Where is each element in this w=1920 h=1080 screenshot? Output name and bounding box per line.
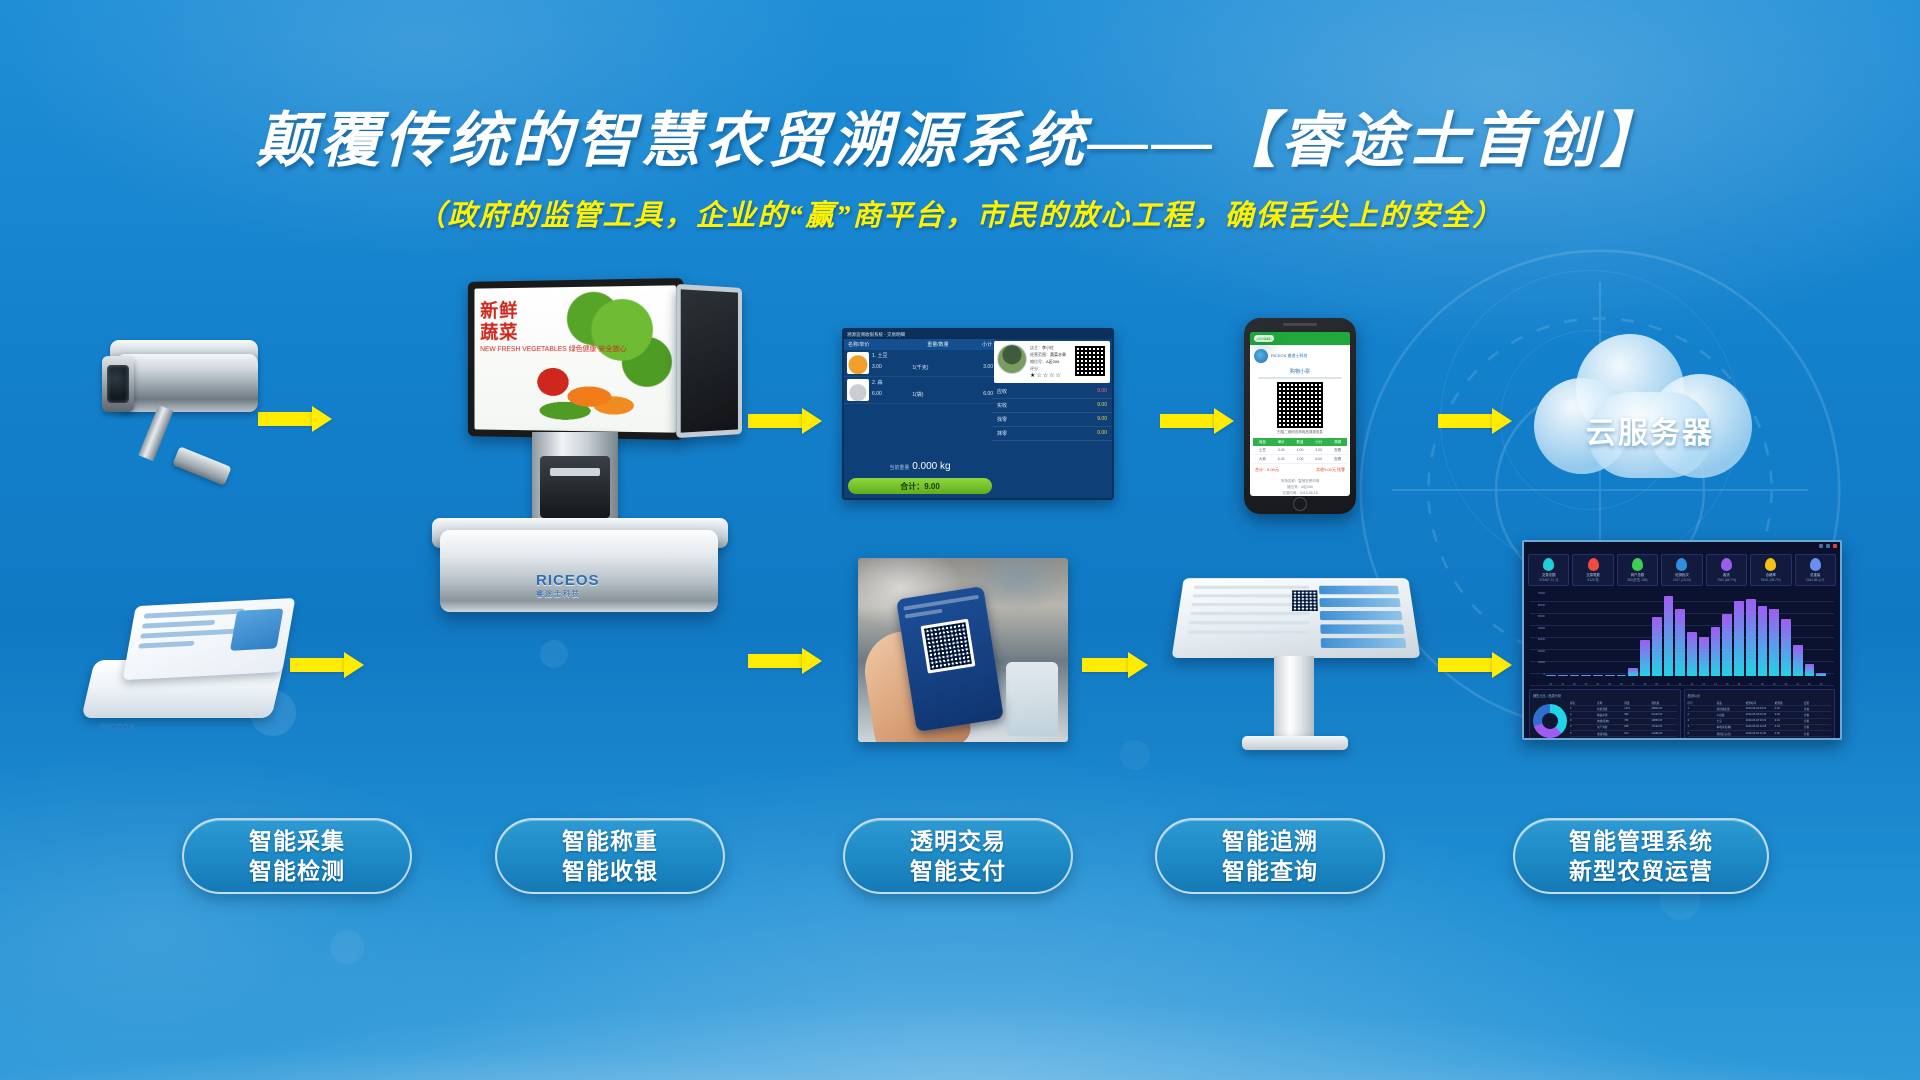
inspection-table: 序号商品检测时间检测值结果1新鲜油麦菜2019-06-18 09:210.02合…: [1688, 700, 1832, 740]
cell: 26800.00: [1651, 707, 1676, 711]
chart-bar: [1593, 675, 1603, 676]
column-header: 销量: [1624, 701, 1649, 705]
cell: 21420.00: [1651, 713, 1676, 717]
cell: 6.00: [1272, 455, 1291, 463]
node-detection-kit[interactable]: RICEOS: [88, 600, 298, 740]
item-thumbnail: [847, 379, 869, 401]
table-row: 应收 9.00: [992, 385, 1112, 399]
x-tick: 22: [1805, 683, 1815, 686]
cell: 1: [1570, 707, 1595, 711]
phone-total-row: 合计：9.00元 实收9.00元 找零: [1250, 464, 1350, 476]
arrow-transaction-to-phone: [1160, 408, 1234, 434]
phone-brand-row: RICEOS 睿途士科技: [1250, 345, 1350, 367]
txn-merchant-panel: 店主：李小红 经营范围：蔬菜水果 摊位号：A区006 评分：★☆☆☆☆ 应收 9…: [992, 339, 1112, 498]
page-title: 颠覆传统的智慧农贸溯源系统——【睿途士首创】: [0, 108, 1920, 174]
cell: 982: [1624, 713, 1649, 717]
cell: 2019-06-18 09:21: [1746, 707, 1773, 711]
chart-bars: [1546, 596, 1826, 676]
chart-x-axis-ticks: 0001020304050607080910111213141516171819…: [1546, 683, 1826, 686]
phone-total-left: 合计：9.00元: [1255, 467, 1279, 473]
merchant-label-3: 评分：: [1030, 366, 1042, 371]
cell: 合格: [1804, 713, 1831, 717]
weight-value: 0.000 kg: [912, 461, 950, 472]
column-header: 检测时间: [1746, 701, 1773, 705]
cell: 新鲜蔬菜: [1597, 707, 1622, 711]
cell: 3: [1688, 719, 1715, 723]
cell: 3.00: [1272, 446, 1291, 454]
kpi-card[interactable]: 客流 7300 (68.7%): [1706, 554, 1747, 586]
cloud-icon: 云服务器: [1530, 330, 1770, 480]
pane-title: 检测公示: [1688, 693, 1832, 698]
chart-bar: [1546, 675, 1556, 676]
cell[interactable]: 查看: [1328, 455, 1347, 463]
phone-total-right: 实收9.00元 找零: [1316, 467, 1345, 473]
item-name: 1. 土豆: [872, 352, 993, 359]
scale-brand-sub: 睿途士科技: [536, 589, 600, 599]
kpi-value: 98.81 (98.7%): [1752, 578, 1789, 583]
rating-stars: ★☆☆☆☆: [1030, 373, 1062, 379]
chart-bar: [1781, 619, 1791, 676]
sales-share-pane[interactable]: 销售占比 / 品类分析 排名名称销量销售额1新鲜蔬菜127626800.002精…: [1529, 689, 1681, 740]
camera-arm-icon: [138, 405, 173, 461]
chart-bar: [1664, 596, 1674, 676]
column-header: 结果: [1804, 701, 1831, 705]
pill-line1: 智能称重: [562, 826, 658, 856]
pill-line2: 智能收银: [562, 856, 658, 886]
merchant-label-1: 经营范围：: [1030, 352, 1050, 357]
chart-bar: [1675, 609, 1685, 676]
pill-trace[interactable]: 智能追溯 智能查询: [1155, 818, 1385, 894]
footer-line-2: 交易时间：2019-06-18: [1250, 490, 1350, 496]
x-tick: 01: [1558, 683, 1568, 686]
chart-bar: [1605, 675, 1615, 676]
chart-bar: [1628, 668, 1638, 676]
x-tick: 02: [1570, 683, 1580, 686]
y-tick: 20000: [1530, 650, 1545, 653]
cell: 0.02: [1775, 732, 1802, 736]
merchant-card: 店主：李小红 经营范围：蔬菜水果 摊位号：A区006 评分：★☆☆☆☆: [994, 341, 1110, 383]
chart-bar: [1699, 637, 1709, 676]
summary-value-3: 0.00: [1097, 430, 1107, 437]
cell: 2019-06-18 09:35: [1746, 713, 1773, 717]
kiosk-base: [1242, 736, 1348, 750]
dashboard-titlebar: [1524, 542, 1840, 550]
node-camera[interactable]: [100, 330, 290, 490]
pill-line2: 智能支付: [910, 856, 1006, 886]
detection-kit-brand: RICEOS: [99, 722, 136, 732]
phone-viewport[interactable]: 溯源小票 RICEOS 睿途士科技 购物小票 扫描二维码查询商品溯源信息 商品 …: [1250, 332, 1350, 496]
kiosk-stand: [1274, 656, 1314, 740]
pill-line1: 智能采集: [249, 826, 345, 856]
merchant-label-0: 店主：: [1030, 345, 1042, 350]
item-subtotal: 3.00: [953, 364, 993, 371]
pill-trade[interactable]: 透明交易 智能支付: [843, 818, 1073, 894]
kpi-card[interactable]: 总重量 2164.86 公斤: [1795, 554, 1836, 586]
txn-col-2: 小计: [968, 341, 992, 348]
page-subtitle: （政府的监管工具，企业的“赢”商平台，市民的放心工程，确保舌尖上的安全）: [0, 192, 1920, 234]
x-tick: 04: [1593, 683, 1603, 686]
donut-chart: [1533, 704, 1567, 738]
pane-title: 销售占比 / 品类分析: [1533, 693, 1677, 698]
cell: 1.00: [1291, 446, 1310, 454]
scale-brand-name: RICEOS: [536, 572, 600, 589]
phone-speaker-icon: [1283, 323, 1317, 326]
kpi-value: 7300 (68.7%): [1708, 578, 1745, 583]
cell: 0.01: [1775, 719, 1802, 723]
item-unit-price: 3.00: [872, 364, 912, 371]
avatar: [997, 344, 1027, 374]
phone-footer: 市场名称：智慧农贸市场 摊位号：A区006 交易时间：2019-06-18: [1250, 478, 1350, 496]
table-header-row: 商品 单价 数量 小计 溯源: [1253, 438, 1347, 446]
y-tick: 0: [1530, 673, 1545, 676]
th-2: 数量: [1291, 438, 1310, 446]
pos-printer-icon: [540, 456, 610, 518]
kpi-row: 交易总额 375487.21 元 交易笔数 8128 笔 商户总数 385(在售…: [1524, 550, 1840, 588]
column-header: 商品: [1717, 701, 1744, 705]
chart-bar: [1805, 664, 1815, 676]
column-header: 销售额: [1651, 701, 1676, 705]
pos-operator-display: [676, 284, 742, 438]
camera-lens-icon: [102, 356, 134, 412]
qr-code-icon: [1277, 382, 1323, 428]
pill-weigh[interactable]: 智能称重 智能收银: [495, 818, 725, 894]
pill-line2: 新型农贸运营: [1569, 856, 1713, 886]
maximize-icon[interactable]: [1826, 544, 1830, 548]
scale-brand-logo: RICEOS 睿途士科技: [536, 572, 600, 599]
mobile-scan-pay-photo: [858, 558, 1068, 742]
chart-bar: [1558, 675, 1568, 676]
table-row: 实收 9.00: [992, 399, 1112, 413]
kpi-card[interactable]: 检测批次 2017 (15.20): [1661, 554, 1702, 586]
x-tick: 07: [1628, 683, 1638, 686]
cell: 19860.00: [1651, 719, 1676, 723]
x-tick: 14: [1711, 683, 1721, 686]
x-tick: 23: [1816, 683, 1826, 686]
cell: 17230.00: [1651, 725, 1676, 729]
summary-value-1: 9.00: [1097, 402, 1107, 409]
chart-bar: [1758, 606, 1768, 676]
th-1: 单价: [1272, 438, 1291, 446]
y-tick: 30000: [1530, 638, 1545, 641]
node-mobile-pay[interactable]: [858, 558, 1072, 746]
brand-logo-icon: [1254, 349, 1268, 363]
scale-weight-readout: 当前重量 0.000 kg: [844, 461, 996, 472]
cell: 合格: [1804, 738, 1831, 740]
column-header: 序号: [1688, 701, 1715, 705]
summary-value-0: 9.00: [1097, 388, 1107, 395]
close-icon[interactable]: [1833, 544, 1837, 548]
pill-line1: 透明交易: [910, 826, 1006, 856]
cell: 大蒜: [1253, 455, 1272, 463]
cell: 2019-06-18 10:28: [1746, 725, 1773, 729]
pill-line2: 智能检测: [249, 856, 345, 886]
table-row[interactable]: 6大蒜2019-06-18 11:440.01合格: [1688, 737, 1832, 740]
camera-mount-icon: [172, 446, 231, 486]
cloud-label: 云服务器: [1530, 408, 1770, 452]
total-label: 合计：: [900, 481, 924, 492]
x-tick: 17: [1746, 683, 1756, 686]
x-tick: 20: [1781, 683, 1791, 686]
cell: 大蒜: [1717, 738, 1744, 740]
merchant-value-0: 李小红: [1042, 345, 1054, 350]
cell: 387: [1624, 738, 1649, 740]
x-tick: 05: [1605, 683, 1615, 686]
y-tick: 10000: [1530, 661, 1545, 664]
cell: 合格: [1804, 719, 1831, 723]
arrow-pay-to-kiosk: [1082, 652, 1146, 678]
x-tick: 15: [1722, 683, 1732, 686]
x-tick: 00: [1546, 683, 1556, 686]
x-tick: 08: [1640, 683, 1650, 686]
process-flow-diagram: RICEOS 新鲜 蔬菜 NEW FRESH VEGETABLES 绿色健康 安…: [0, 300, 1920, 820]
item-thumbnail: [847, 352, 869, 374]
cell: 0.04: [1775, 725, 1802, 729]
kpi-card[interactable]: 交易笔数 8128 笔: [1572, 554, 1613, 586]
table-row: 大蒜 6.00 1.00 6.00 查看: [1253, 455, 1347, 464]
inspection-pane[interactable]: 检测公示 序号商品检测时间检测值结果1新鲜油麦菜2019-06-18 09:21…: [1684, 689, 1836, 740]
scale-base: [440, 530, 718, 612]
cell: 2019-06-18 11:06: [1746, 732, 1773, 736]
x-tick: 11: [1675, 683, 1685, 686]
chart-bar: [1652, 617, 1662, 676]
table-row[interactable]: 1. 土豆 3.00 1(千克) 3.00: [844, 350, 996, 377]
cell: 0.01: [1775, 738, 1802, 740]
checkout-total-button[interactable]: 合计： 9.00: [848, 478, 992, 494]
column-header: 排名: [1570, 701, 1595, 705]
touch-kiosk-screen[interactable]: [1172, 578, 1421, 658]
phone-brand-text: RICEOS 睿途士科技: [1271, 353, 1307, 359]
cell: 5: [1688, 732, 1715, 736]
th-3: 小计: [1309, 438, 1328, 446]
cell: 禽蛋制品: [1597, 732, 1622, 736]
cell: 本地芹菜(精): [1717, 725, 1744, 729]
transaction-bar-chart: 700006000050000400003000020000100000 000…: [1530, 590, 1834, 686]
kpi-card[interactable]: 合格率 98.81 (98.7%): [1750, 554, 1791, 586]
y-tick: 60000: [1530, 604, 1545, 607]
chart-bar: [1722, 614, 1732, 676]
kiosk-right-column: [1319, 586, 1406, 649]
smartphone-icon[interactable]: 溯源小票 RICEOS 睿途士科技 购物小票 扫描二维码查询商品溯源信息 商品 …: [1244, 318, 1356, 514]
item-qty: 1(袋): [912, 391, 952, 398]
chart-bar: [1816, 673, 1826, 676]
summary-label-2: 找零: [997, 416, 1007, 423]
th-4: 溯源: [1328, 438, 1347, 446]
table-row: 抹零 0.00: [992, 427, 1112, 441]
cell: 小白菜: [1717, 713, 1744, 717]
pill-line1: 智能追溯: [1222, 826, 1318, 856]
cell: 精品水果: [1597, 713, 1622, 717]
cell: 5: [1570, 732, 1595, 736]
kpi-card[interactable]: 商户总数 385(在售 286): [1617, 554, 1658, 586]
node-transaction-screen[interactable]: 溯源追溯收银系统 - 交易明细 名称/单价 重量/数量 小计 1. 土豆 3.0…: [842, 328, 1118, 504]
x-tick: 21: [1793, 683, 1803, 686]
summary-label-3: 抹零: [997, 430, 1007, 437]
txn-col-1: 重量/数量: [908, 341, 968, 348]
pos-customer-display: 新鲜 蔬菜 NEW FRESH VEGETABLES 绿色健康 安全放心: [468, 278, 683, 440]
item-name: 2. 蒜: [872, 379, 993, 386]
chart-bar: [1617, 675, 1627, 676]
txn-col-0: 名称/单价: [848, 341, 908, 348]
y-tick: 40000: [1530, 627, 1545, 630]
caption-pill-row: 智能采集 智能检测 智能称重 智能收银 透明交易 智能支付 智能追溯 智能查询 …: [0, 818, 1920, 914]
cell: 土豆: [1253, 446, 1272, 454]
table-row[interactable]: 6粮油干货3879650.00: [1570, 737, 1677, 740]
cell: 3: [1570, 719, 1595, 723]
cell: 2: [1688, 713, 1715, 717]
pill-line1: 智能管理系统: [1569, 826, 1713, 856]
pill-manage[interactable]: 智能管理系统 新型农贸运营: [1513, 818, 1769, 894]
cell: 512: [1624, 732, 1649, 736]
cell: 6: [1688, 738, 1715, 740]
cell: 新鲜豇豆(长): [1717, 732, 1744, 736]
x-tick: 10: [1664, 683, 1674, 686]
phone-header-menu-icon[interactable]: [1254, 335, 1274, 342]
cell: 761: [1624, 719, 1649, 723]
arrow-detection-to-scale: [290, 652, 364, 678]
node-pos-scale[interactable]: 新鲜 蔬菜 NEW FRESH VEGETABLES 绿色健康 安全放心 RIC…: [440, 280, 760, 700]
kpi-value: 2164.86 公斤: [1797, 578, 1834, 583]
txn-item-list[interactable]: 名称/单价 重量/数量 小计 1. 土豆 3.00 1(千克) 3.00: [844, 339, 996, 498]
merchant-value-2: A区006: [1046, 359, 1059, 364]
chart-bar: [1581, 675, 1591, 676]
item-unit-price: 6.00: [872, 391, 912, 398]
arrow-phone-to-cloud: [1438, 408, 1512, 434]
phone-header: 溯源小票: [1250, 332, 1350, 345]
cell: 6: [1570, 738, 1595, 740]
cell: 水产海鲜: [1597, 725, 1622, 729]
qr-code-icon: [921, 619, 976, 674]
node-cloud[interactable]: 云服务器: [1530, 330, 1780, 490]
cell: 合格: [1804, 707, 1831, 711]
cell: 0.02: [1775, 707, 1802, 711]
cell: 土豆: [1717, 719, 1744, 723]
pos-ad-line2: 蔬菜: [480, 323, 518, 342]
cell: 1: [1688, 707, 1715, 711]
node-phone[interactable]: 溯源小票 RICEOS 睿途士科技 购物小票 扫描二维码查询商品溯源信息 商品 …: [1244, 318, 1360, 518]
cell: 4: [1570, 725, 1595, 729]
x-tick: 13: [1699, 683, 1709, 686]
cell: 肉类(猪肉): [1597, 719, 1622, 723]
merchant-fields: 店主：李小红 经营范围：蔬菜水果 摊位号：A区006 评分：★☆☆☆☆: [1030, 344, 1070, 380]
kpi-card[interactable]: 交易总额 375487.21 元: [1528, 554, 1569, 586]
pos-transaction-ui[interactable]: 溯源追溯收银系统 - 交易明细 名称/单价 重量/数量 小计 1. 土豆 3.0…: [842, 328, 1114, 500]
x-tick: 12: [1687, 683, 1697, 686]
pill-collect[interactable]: 智能采集 智能检测: [182, 818, 412, 894]
phone-receipt-table: 商品 单价 数量 小计 溯源 土豆 3.00 1.00 3.00 查看: [1253, 438, 1347, 464]
cell: 1.00: [1291, 455, 1310, 463]
vegetable-ad-image: 新鲜 蔬菜 NEW FRESH VEGETABLES 绿色健康 安全放心: [475, 285, 677, 432]
cell: 2019-06-18 11:44: [1746, 738, 1773, 740]
item-qty: 1(千克): [912, 364, 952, 371]
chart-bar: [1687, 632, 1697, 676]
qr-code-icon: [1292, 590, 1318, 611]
cell: 9650.00: [1651, 738, 1676, 740]
merchant-value-1: 蔬菜水果: [1050, 352, 1066, 357]
pos-ad-line1: 新鲜: [480, 302, 518, 321]
summary-label-1: 实收: [997, 402, 1007, 409]
x-tick: 16: [1734, 683, 1744, 686]
x-tick: 18: [1758, 683, 1768, 686]
node-kiosk[interactable]: [1178, 568, 1418, 758]
pill-line2: 智能查询: [1222, 856, 1318, 886]
chart-bar: [1769, 609, 1779, 676]
qr-code-icon: [1073, 344, 1107, 378]
y-tick: 50000: [1530, 615, 1545, 618]
dashboard-screen[interactable]: 交易总额 375487.21 元 交易笔数 8128 笔 商户总数 385(在售…: [1522, 540, 1842, 740]
chart-bar: [1793, 645, 1803, 676]
cell: 新鲜油麦菜: [1717, 707, 1744, 711]
x-tick: 06: [1617, 683, 1627, 686]
item-subtotal: 6.00: [953, 391, 993, 398]
chart-bar: [1640, 640, 1650, 676]
table-row: 找零 9.00: [992, 413, 1112, 427]
heading-block: 颠覆传统的智慧农贸溯源系统——【睿途士首创】 （政府的监管工具，企业的“赢”商平…: [0, 108, 1920, 234]
chart-bar: [1711, 627, 1721, 676]
cell: 12480.00: [1651, 732, 1676, 736]
arrow-kiosk-to-dashboard: [1438, 652, 1512, 678]
txn-titlebar: 溯源追溯收银系统 - 交易明细: [844, 330, 1112, 339]
cell: 6.00: [1309, 455, 1328, 463]
x-tick: 09: [1652, 683, 1662, 686]
camera-body-icon: [116, 354, 258, 412]
ui-bar: [904, 609, 942, 619]
detection-kit-card-icon: [123, 598, 296, 680]
cell[interactable]: 查看: [1328, 446, 1347, 454]
dashboard-lower-panes: 销售占比 / 品类分析 排名名称销量销售额1新鲜蔬菜127626800.002精…: [1524, 686, 1840, 740]
chart-bar: [1746, 599, 1756, 676]
node-dashboard[interactable]: 交易总额 375487.21 元 交易笔数 8128 笔 商户总数 385(在售…: [1522, 540, 1846, 744]
chart-bar: [1734, 601, 1744, 676]
cell: 4: [1688, 725, 1715, 729]
total-value: 9.00: [924, 482, 940, 491]
kpi-value: 375487.21 元: [1530, 578, 1567, 583]
column-header: 检测值: [1775, 701, 1802, 705]
summary-label-0: 应收: [997, 388, 1007, 395]
cell: 1276: [1624, 707, 1649, 711]
divider: [1258, 377, 1342, 379]
y-tick: 70000: [1530, 592, 1545, 595]
phone-qr-caption: 扫描二维码查询商品溯源信息: [1250, 430, 1350, 435]
cell: 合格: [1804, 725, 1831, 729]
x-tick: 03: [1581, 683, 1591, 686]
summary-value-2: 9.00: [1097, 416, 1107, 423]
kpi-value: 2017 (15.20): [1663, 578, 1700, 583]
cell: 2019-06-18 10:02: [1746, 719, 1773, 723]
merchant-label-2: 摊位号：: [1030, 359, 1046, 364]
cell: 0.03: [1775, 713, 1802, 717]
chart-bar: [1570, 675, 1580, 676]
table-row[interactable]: 2. 蒜 6.00 1(袋) 6.00: [844, 377, 996, 404]
phone-home-button-icon[interactable]: [1293, 497, 1307, 511]
th-0: 商品: [1253, 438, 1272, 446]
table-row: 土豆 3.00 1.00 3.00 查看: [1253, 446, 1347, 455]
weight-label: 当前重量: [889, 465, 909, 471]
pos-ad-caption: NEW FRESH VEGETABLES 绿色健康 安全放心: [480, 345, 626, 354]
bokeh-dot: [330, 930, 364, 964]
product-bottle: [1006, 662, 1058, 736]
ranking-table: 排名名称销量销售额1新鲜蔬菜127626800.002精品水果98221420.…: [1570, 700, 1677, 740]
cell: 3.00: [1309, 446, 1328, 454]
column-header: 名称: [1597, 701, 1622, 705]
minimize-icon[interactable]: [1819, 544, 1823, 548]
chart-y-axis-ticks: 700006000050000400003000020000100000: [1530, 592, 1545, 676]
cell: 合格: [1804, 732, 1831, 736]
txn-item-columns: 名称/单价 重量/数量 小计: [844, 339, 996, 350]
phone-page-title: 购物小票: [1250, 368, 1350, 375]
cell: 粮油干货: [1597, 738, 1622, 740]
cell: 2: [1570, 713, 1595, 717]
cell: 648: [1624, 725, 1649, 729]
